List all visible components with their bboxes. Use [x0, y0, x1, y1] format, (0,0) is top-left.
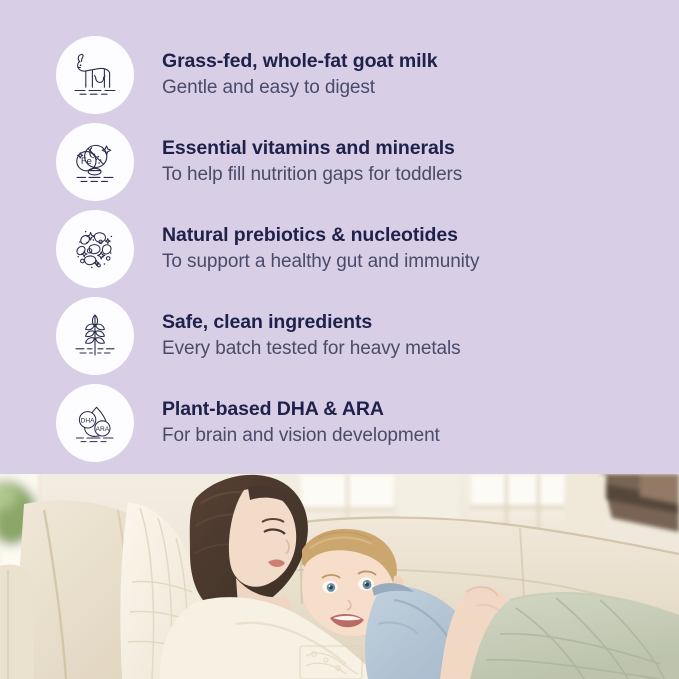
benefit-row: Fe Essential vitamins and minerals To he…	[0, 118, 679, 205]
photo-illustration	[0, 474, 679, 679]
lifestyle-photo	[0, 474, 679, 679]
goat-icon	[56, 36, 134, 114]
icon-label-fe: Fe	[81, 155, 92, 166]
benefit-text: Essential vitamins and minerals To help …	[162, 136, 462, 188]
dha-ara-icon: DHA ARA	[56, 384, 134, 462]
benefit-subtitle: Gentle and easy to digest	[162, 76, 437, 101]
probiotic-bacteria-icon	[56, 210, 134, 288]
benefits-list: Grass-fed, whole-fat goat milk Gentle an…	[0, 0, 679, 474]
benefit-text: Natural prebiotics & nucleotides To supp…	[162, 223, 479, 275]
benefit-subtitle: To help fill nutrition gaps for toddlers	[162, 163, 462, 188]
benefit-text: Plant-based DHA & ARA For brain and visi…	[162, 397, 440, 449]
benefit-row: Grass-fed, whole-fat goat milk Gentle an…	[0, 31, 679, 118]
benefit-subtitle: To support a healthy gut and immunity	[162, 250, 479, 275]
benefit-text: Safe, clean ingredients Every batch test…	[162, 310, 461, 362]
benefit-subtitle: For brain and vision development	[162, 424, 440, 449]
benefit-title: Natural prebiotics & nucleotides	[162, 223, 479, 248]
benefit-title: Plant-based DHA & ARA	[162, 397, 440, 422]
product-benefits-banner: Grass-fed, whole-fat goat milk Gentle an…	[0, 0, 679, 679]
icon-label-ara: ARA	[96, 425, 110, 432]
wheat-stalk-icon	[56, 297, 134, 375]
benefit-title: Safe, clean ingredients	[162, 310, 461, 335]
benefit-subtitle: Every batch tested for heavy metals	[162, 337, 461, 362]
icon-label-dha: DHA	[81, 417, 96, 424]
benefit-row: Natural prebiotics & nucleotides To supp…	[0, 205, 679, 292]
vitamin-pills-icon: Fe	[56, 123, 134, 201]
benefit-title: Grass-fed, whole-fat goat milk	[162, 49, 437, 74]
benefit-title: Essential vitamins and minerals	[162, 136, 462, 161]
benefit-row: DHA ARA Plant-based DHA & ARA For brain …	[0, 379, 679, 466]
benefit-text: Grass-fed, whole-fat goat milk Gentle an…	[162, 49, 437, 101]
benefit-row: Safe, clean ingredients Every batch test…	[0, 292, 679, 379]
